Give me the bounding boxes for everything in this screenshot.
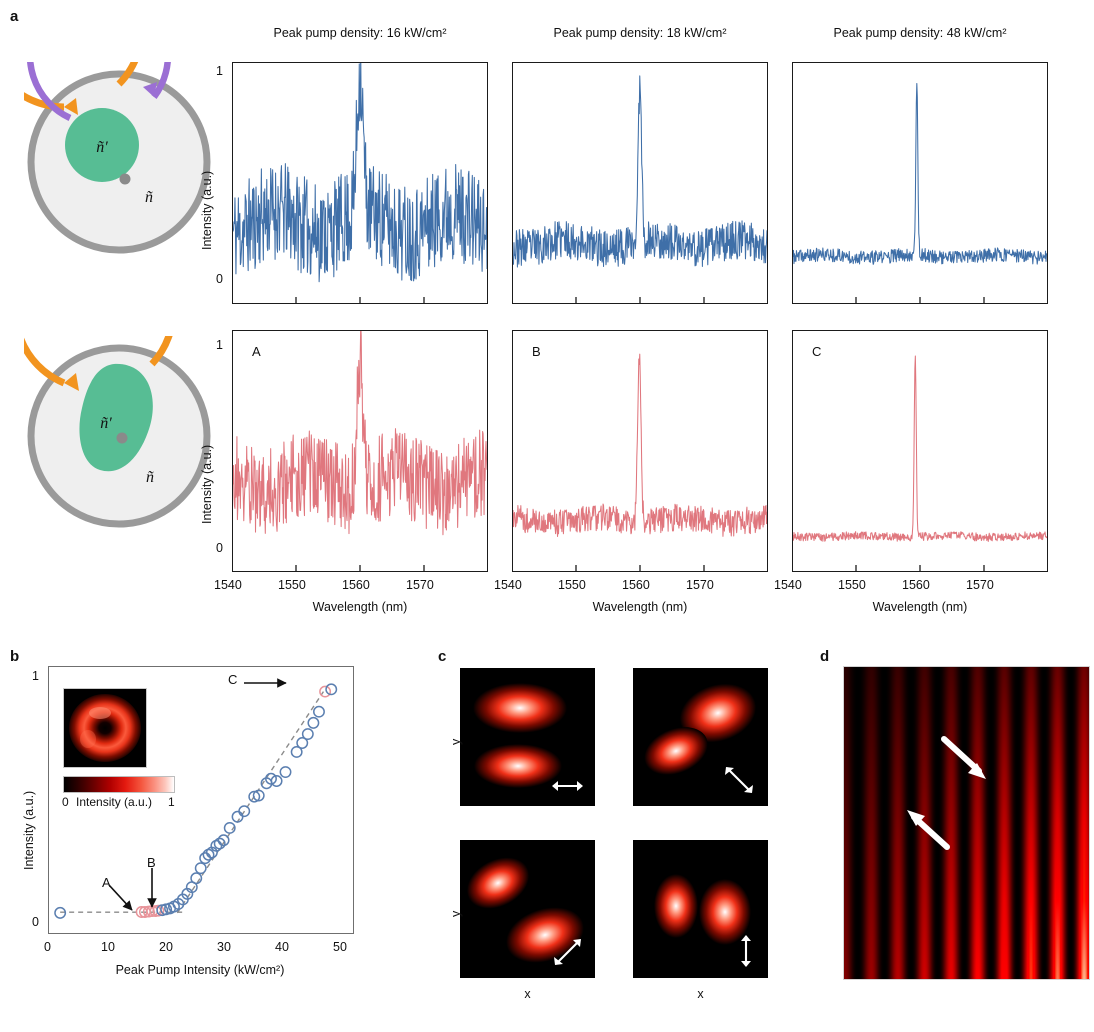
colorbar-min-label: 0 [62, 795, 69, 809]
center-dot-2 [117, 433, 128, 444]
spectrum-trace-top-1 [233, 63, 487, 303]
spectrum-plot-bottom-A [232, 330, 488, 572]
xtick-c3-1570: 1570 [966, 578, 994, 592]
xtick-marks-inner-bot2 [576, 565, 704, 571]
panel-b-xtick-40: 40 [275, 940, 289, 954]
panel-b-ytick-1: 1 [32, 669, 39, 683]
deformed-ring-schematic: ñ′ ñ [24, 336, 214, 536]
spectrum-trace-top-3 [793, 63, 1047, 303]
panel-b-xtick-30: 30 [217, 940, 231, 954]
mode-image-diagonal-up [460, 840, 595, 978]
lobe-right [699, 879, 751, 945]
ll-data-point [314, 707, 324, 717]
xtick-marks-inner-bot1 [296, 565, 424, 571]
intensity-colorbar [63, 776, 175, 793]
spectrum-plot-bottom-C [792, 330, 1048, 572]
spectrum-plot-top-18kW [512, 62, 768, 304]
panel-b-xtick-20: 20 [159, 940, 173, 954]
xtick-marks-inner-bot3 [856, 565, 984, 571]
annotation-label-A: A [102, 875, 111, 890]
column-title-3: Peak pump density: 48 kW/cm² [792, 26, 1048, 40]
outer-index-label: ñ [145, 189, 153, 206]
ytick-bottom-1: 1 [216, 338, 223, 352]
mode-image-vertical [633, 840, 768, 978]
ll-data-point [320, 686, 330, 696]
spectrum-trace-top-2 [513, 63, 767, 303]
panel-b-xlabel: Peak Pump Intensity (kW/cm²) [30, 963, 370, 977]
xlabel-col3: Wavelength (nm) [792, 600, 1048, 614]
xtick-c2-1570: 1570 [686, 578, 714, 592]
colorbar-max-label: 1 [168, 795, 175, 809]
mode-image-diagonal-down [633, 668, 768, 806]
donut-ring [69, 694, 141, 762]
ll-data-point [326, 684, 336, 694]
xtick-c1-1540: 1540 [214, 578, 242, 592]
xlabel-col2: Wavelength (nm) [512, 600, 768, 614]
spectrum-plot-bottom-B [512, 330, 768, 572]
ytick-top-0: 0 [216, 272, 223, 286]
spectrum-plot-top-16kW [232, 62, 488, 304]
column-title-1: Peak pump density: 16 kW/cm² [232, 26, 488, 40]
colorbar-title: Intensity (a.u.) [76, 795, 152, 809]
xtick-c1-1560: 1560 [342, 578, 370, 592]
ll-data-point [196, 863, 206, 873]
panel-c-xlabel-left: x [460, 987, 595, 1001]
panel-c-ylabel-top: y [449, 739, 463, 745]
panel-b-xtick-0: 0 [44, 940, 51, 954]
lobe-left [654, 874, 698, 938]
panel-b-ytick-0: 0 [32, 915, 39, 929]
panel-letter-d: d [820, 648, 829, 665]
mode-image-horizontal [460, 668, 595, 806]
spectrum-trace-bottom-2 [513, 331, 767, 571]
xlabel-col1: Wavelength (nm) [232, 600, 488, 614]
center-dot [120, 174, 131, 185]
xtick-marks-inner-top3 [856, 297, 984, 303]
ll-data-point [280, 767, 290, 777]
spectrum-plot-top-48kW [792, 62, 1048, 304]
spectrum-line [233, 63, 487, 282]
xtick-c3-1550: 1550 [838, 578, 866, 592]
symmetric-ring-schematic: ñ′ ñ [24, 62, 214, 262]
spectrum-label-C: C [812, 344, 821, 359]
spectrum-line [793, 356, 1047, 541]
xtick-marks-inner-top2 [576, 297, 704, 303]
donut-mode-profile-inset [63, 688, 147, 768]
xtick-c1-1550: 1550 [278, 578, 306, 592]
xtick-c2-1560: 1560 [622, 578, 650, 592]
inner-index-label-2: ñ′ [100, 415, 112, 432]
lobe-upper [473, 683, 567, 733]
ll-data-point [303, 729, 313, 739]
spectrum-line [793, 84, 1047, 265]
panel-b-ylabel: Intensity (a.u.) [22, 791, 36, 870]
panel-letter-b: b [10, 648, 19, 665]
figure-root: a Peak pump density: 16 kW/cm² Peak pump… [0, 0, 1094, 1032]
xtick-marks-inner-top1 [296, 297, 424, 303]
panel-c-ylabel-bottom: y [449, 911, 463, 917]
spectra-ylabel-top: Intensity (a.u.) [200, 171, 214, 250]
xtick-c1-1570: 1570 [406, 578, 434, 592]
spectrum-label-A: A [252, 344, 261, 359]
spectrum-trace-bottom-1 [233, 331, 487, 571]
lobe-lower [474, 744, 562, 788]
xtick-c3-1540: 1540 [774, 578, 802, 592]
spectrum-line [513, 354, 767, 536]
spectrum-trace-bottom-3 [793, 331, 1047, 571]
spectrum-line [513, 76, 767, 267]
inner-index-label: ñ′ [96, 139, 108, 156]
ll-data-point [191, 873, 201, 883]
panel-letter-c: c [438, 648, 446, 665]
xtick-c3-1560: 1560 [902, 578, 930, 592]
annotation-label-C: C [228, 672, 237, 687]
spectrum-label-B: B [532, 344, 541, 359]
xtick-c2-1540: 1540 [494, 578, 522, 592]
panel-c-xlabel-right: x [633, 987, 768, 1001]
spectrum-line [233, 331, 487, 535]
ytick-top-1: 1 [216, 64, 223, 78]
interference-fringes [843, 666, 1090, 980]
linear-fit [177, 692, 323, 913]
spectra-ylabel-bottom: Intensity (a.u.) [200, 445, 214, 524]
outer-index-label-2: ñ [146, 469, 154, 486]
annotation-label-B: B [147, 855, 156, 870]
panel-letter-a: a [10, 8, 18, 25]
panel-b-xtick-10: 10 [101, 940, 115, 954]
ytick-bottom-0: 0 [216, 541, 223, 555]
panel-b-xtick-50: 50 [333, 940, 347, 954]
column-title-2: Peak pump density: 18 kW/cm² [512, 26, 768, 40]
xtick-c2-1550: 1550 [558, 578, 586, 592]
ll-data-point [308, 718, 318, 728]
